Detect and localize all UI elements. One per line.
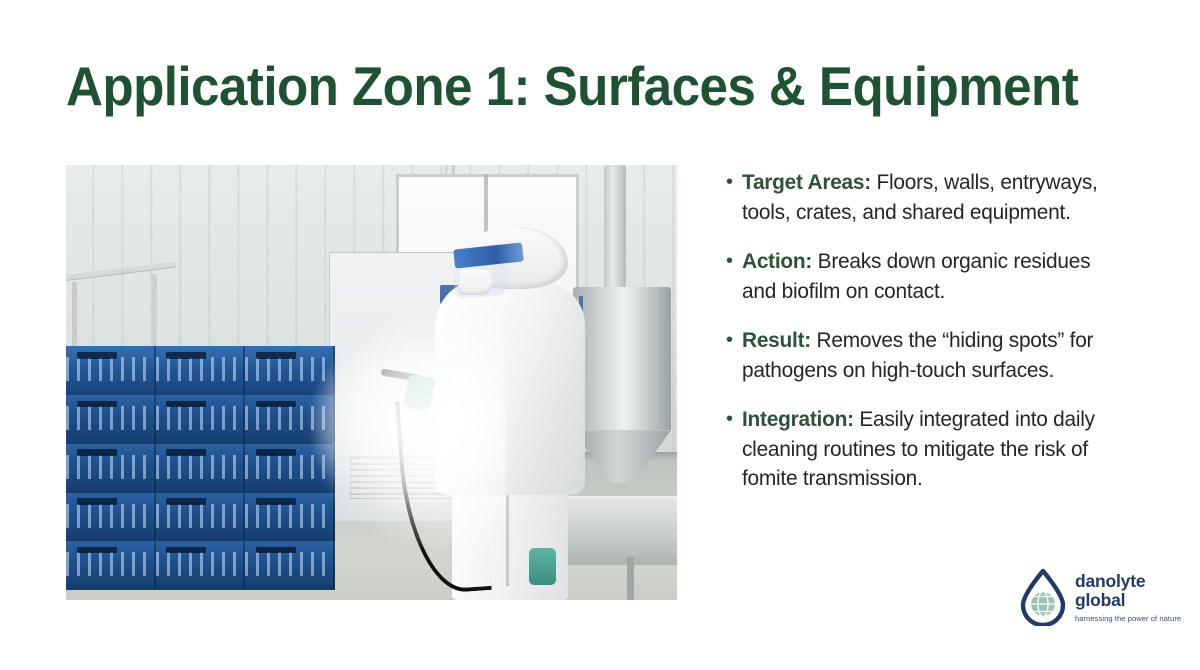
crate	[66, 493, 156, 540]
crate	[66, 395, 156, 442]
worker-respirator-mask	[458, 269, 493, 295]
bullet-marker-icon: •	[726, 168, 742, 197]
crate	[156, 346, 246, 393]
brand-name-line-1: danolyte	[1075, 572, 1186, 591]
bullet-item-action: • Action: Breaks down organic residues a…	[726, 247, 1136, 306]
worker-glove-right	[529, 548, 556, 585]
bullet-item-integration: • Integration: Easily integrated into da…	[726, 405, 1136, 494]
crate	[156, 444, 246, 491]
bullet-list: • Target Areas: Floors, walls, entryways…	[726, 168, 1136, 494]
bullet-text: Target Areas: Floors, walls, entryways, …	[742, 168, 1124, 227]
bullet-item-target-areas: • Target Areas: Floors, walls, entryways…	[726, 168, 1136, 227]
slide: Application Zone 1: Surfaces & Equipment	[0, 0, 1200, 670]
bullet-lead-label: Target Areas:	[742, 170, 871, 194]
brand-name-line-2: global	[1075, 591, 1186, 610]
brand-wordmark: danolyte global harnessing the power of …	[1068, 568, 1186, 624]
bullet-marker-icon: •	[726, 326, 742, 355]
crate	[66, 346, 156, 393]
bullet-item-result: • Result: Removes the “hiding spots” for…	[726, 326, 1136, 385]
bullet-marker-icon: •	[726, 247, 742, 276]
brand-tagline: harnessing the power of nature	[1075, 613, 1186, 624]
photo-bench-leg	[627, 557, 634, 601]
bullet-marker-icon: •	[726, 405, 742, 434]
bullet-text: Result: Removes the “hiding spots” for p…	[742, 326, 1124, 385]
crate	[156, 541, 246, 588]
bullet-text: Action: Breaks down organic residues and…	[742, 247, 1124, 306]
page-title: Application Zone 1: Surfaces & Equipment	[66, 55, 1052, 117]
bullet-lead-label: Action:	[742, 249, 812, 273]
water-droplet-globe-icon	[1018, 568, 1068, 626]
crate	[156, 395, 246, 442]
spray-mist-core	[249, 296, 481, 548]
crate	[66, 444, 156, 491]
zone-photo	[66, 165, 677, 600]
bullet-lead-label: Integration:	[742, 407, 854, 431]
crate	[66, 541, 156, 588]
bullet-text: Integration: Easily integrated into dail…	[742, 405, 1124, 494]
bullet-lead-label: Result:	[742, 328, 811, 352]
crate	[245, 541, 335, 588]
brand-logo: danolyte global harnessing the power of …	[1018, 568, 1186, 640]
crate	[156, 493, 246, 540]
crate-row	[66, 541, 335, 590]
